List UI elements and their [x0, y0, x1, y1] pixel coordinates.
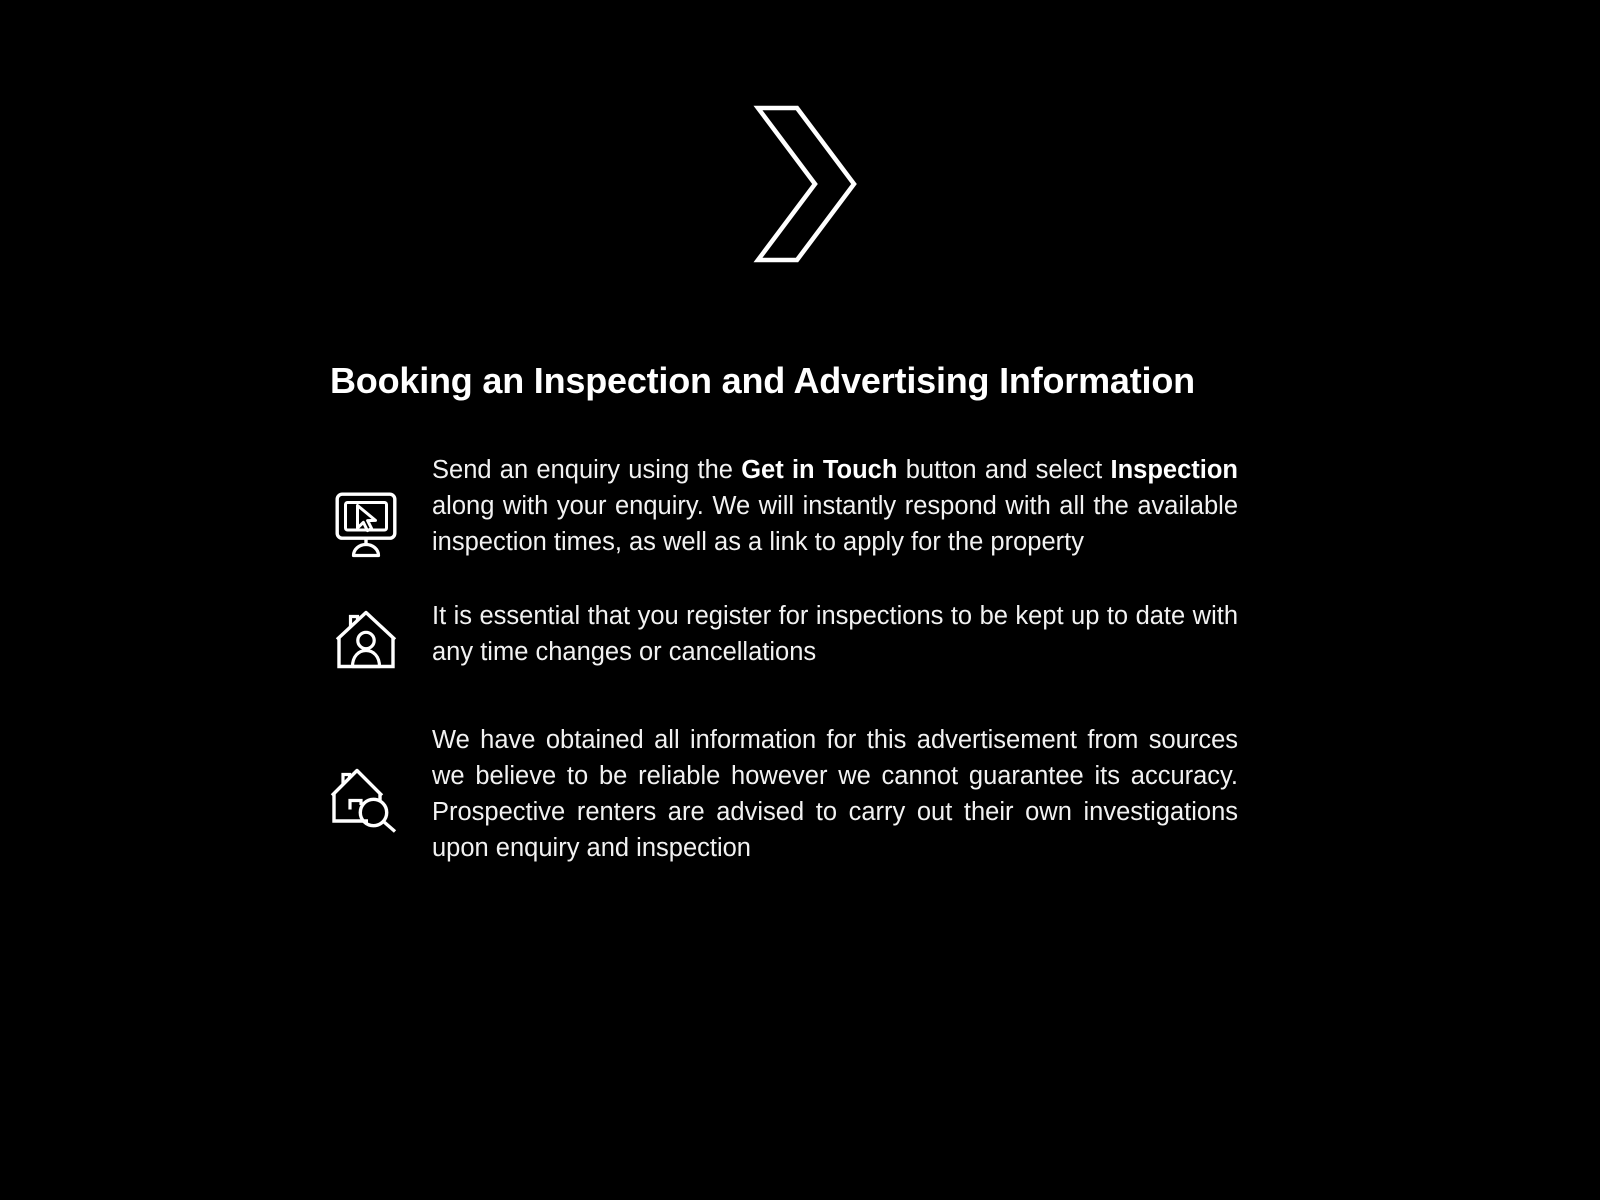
text-segment-bold: Get in Touch — [741, 456, 897, 484]
text-segment-bold: Inspection — [1111, 456, 1239, 484]
list-item: Send an enquiry using the Get in Touch b… — [0, 452, 1600, 560]
slide-root: Booking an Inspection and Advertising In… — [0, 0, 1600, 1200]
house-person-icon — [318, 608, 414, 670]
list-item: We have obtained all information for thi… — [0, 722, 1600, 866]
text-segment: It is essential that you register for in… — [432, 602, 1238, 666]
text-segment: Send an enquiry using the — [432, 456, 741, 484]
text-segment: We have obtained all information for thi… — [432, 726, 1238, 862]
brand-logo — [0, 104, 1600, 264]
list-item-text: It is essential that you register for in… — [432, 598, 1238, 670]
house-magnifier-icon — [316, 764, 412, 834]
text-segment: button and select — [897, 456, 1110, 484]
monitor-cursor-icon — [318, 492, 414, 558]
info-list: Send an enquiry using the Get in Touch b… — [0, 452, 1600, 866]
list-item-text: We have obtained all information for thi… — [432, 722, 1238, 866]
page-title: Booking an Inspection and Advertising In… — [330, 360, 1240, 402]
list-item: It is essential that you register for in… — [0, 598, 1600, 670]
list-item-text: Send an enquiry using the Get in Touch b… — [432, 452, 1238, 560]
text-segment: along with your enquiry. We will instant… — [432, 492, 1238, 556]
chevron-right-logo — [741, 104, 859, 264]
